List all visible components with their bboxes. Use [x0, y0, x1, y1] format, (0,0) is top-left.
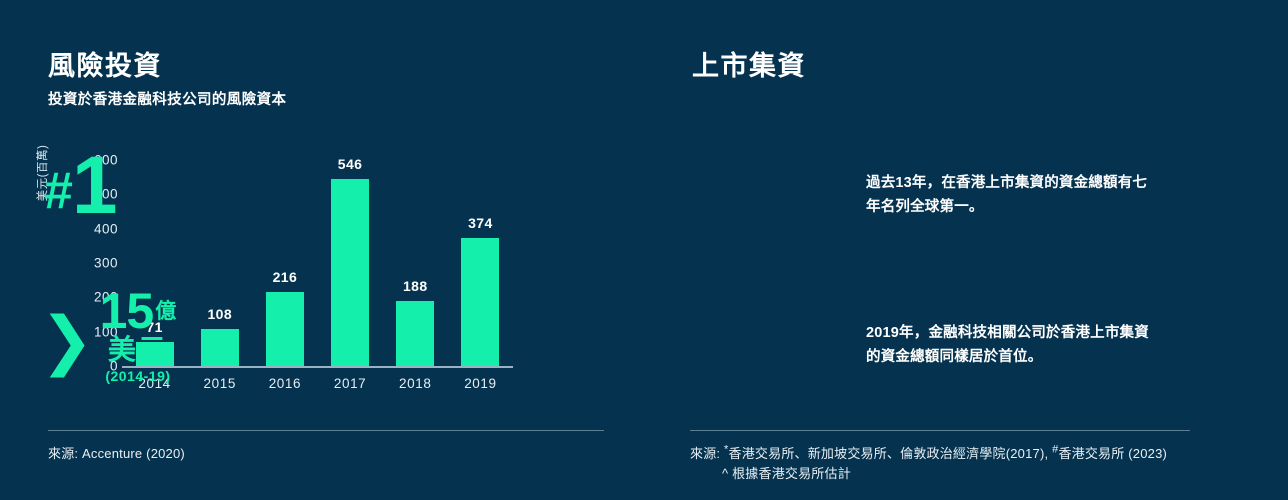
source-line-2: ^ 根據香港交易所估計: [690, 464, 1210, 484]
stat-block-amount: ❯ 15 億 美元 (2014-19): [40, 288, 176, 383]
amount-unit: 億: [155, 301, 176, 322]
x-tick-label: 2018: [383, 376, 448, 391]
divider-left: [48, 430, 604, 431]
x-tick-label: 2015: [187, 376, 252, 391]
rank-one-figure: # 1: [44, 152, 116, 219]
x-tick-label: 2017: [318, 376, 383, 391]
stat-block-rank-one: # 1: [44, 152, 116, 219]
venture-capital-panel: 風險投資 投資於香港金融科技公司的風險資本 美元(百萬) 01002003004…: [0, 0, 648, 500]
listing-fundraising-panel: 上市集資: [648, 0, 1288, 500]
source-prefix: 來源:: [690, 446, 724, 461]
amount-currency: 美元: [100, 336, 177, 364]
hash-icon: #: [44, 167, 72, 216]
source-part-1: 香港交易所、新加坡交易所、倫敦政治經濟學院(2017),: [729, 446, 1053, 461]
source-part-2: 香港交易所 (2023): [1058, 446, 1167, 461]
x-tick-label: 2016: [252, 376, 317, 391]
amount-number: 15: [100, 288, 154, 334]
stat-description-rank-one: 過去13年，在香港上市集資的資金總額有七年名列全球第一。: [866, 172, 1156, 220]
stat-description-amount: 2019年，金融科技相關公司於香港上市集資的資金總額同樣居於首位。: [866, 322, 1156, 370]
y-tick-label: 300: [72, 256, 118, 270]
amount-year-range: (2014-19): [100, 369, 177, 383]
amount-figure: 15 億 美元 (2014-19): [100, 288, 177, 383]
divider-right: [690, 430, 1190, 431]
infographic-board: 風險投資 投資於香港金融科技公司的風險資本 美元(百萬) 01002003004…: [0, 0, 1288, 500]
x-tick-label: 2019: [448, 376, 513, 391]
chevron-right-icon: ❯: [40, 308, 94, 372]
amount-top-row: 15 億: [100, 288, 177, 334]
source-note-right: 來源: *香港交易所、新加坡交易所、倫敦政治經濟學院(2017), #香港交易所…: [690, 444, 1210, 484]
x-axis-ticks: 201420152016201720182019: [122, 0, 513, 420]
rank-one-number: 1: [72, 152, 116, 219]
page-title-right: 上市集資: [692, 44, 806, 83]
source-note-left: 來源: Accenture (2020): [48, 444, 185, 464]
